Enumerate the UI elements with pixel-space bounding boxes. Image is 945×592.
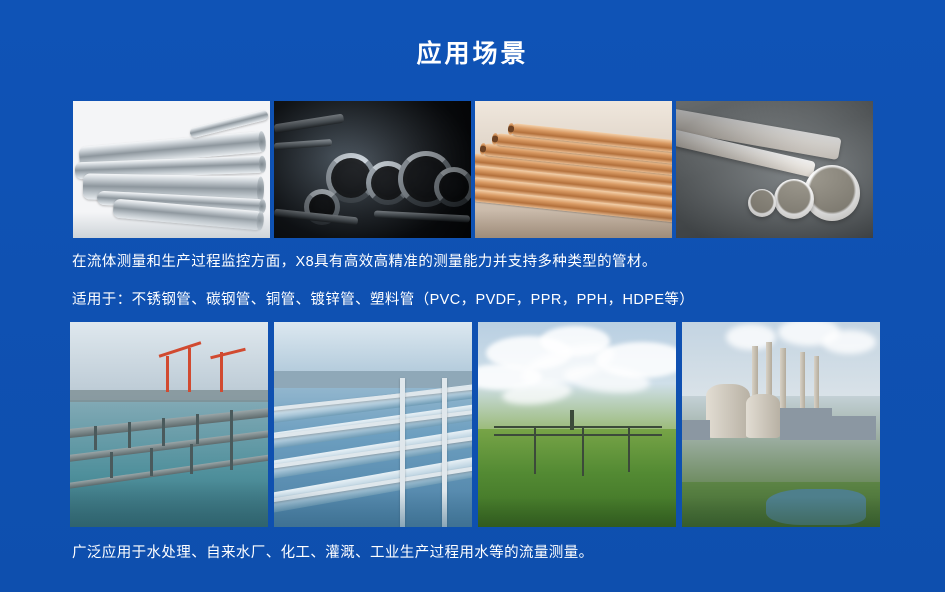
photo-filtration-basins <box>274 322 472 527</box>
caption-line-2: 适用于：不锈钢管、碳钢管、铜管、镀锌管、塑料管（PVC，PVDF，PPR，PPH… <box>72 287 694 313</box>
photo-power-plant <box>682 322 880 527</box>
application-scene-photos <box>70 322 880 527</box>
photo-water-intake-pier <box>70 322 268 527</box>
photo-dark-steel-pipes <box>274 101 471 238</box>
application-scenario-page: 应用场景 <box>0 0 945 592</box>
photo-irrigation-sprinkler <box>478 322 676 527</box>
pipe-material-photos <box>73 101 873 238</box>
photo-copper-tubes <box>475 101 672 238</box>
photo-stainless-steel-tubes <box>73 101 270 238</box>
page-title: 应用场景 <box>0 38 945 70</box>
caption-line-3: 广泛应用于水处理、自来水厂、化工、灌溉、工业生产过程用水等的流量测量。 <box>72 540 594 566</box>
photo-plastic-pipes <box>676 101 873 238</box>
caption-line-1: 在流体测量和生产过程监控方面，X8具有高效高精准的测量能力并支持多种类型的管材。 <box>72 249 657 275</box>
